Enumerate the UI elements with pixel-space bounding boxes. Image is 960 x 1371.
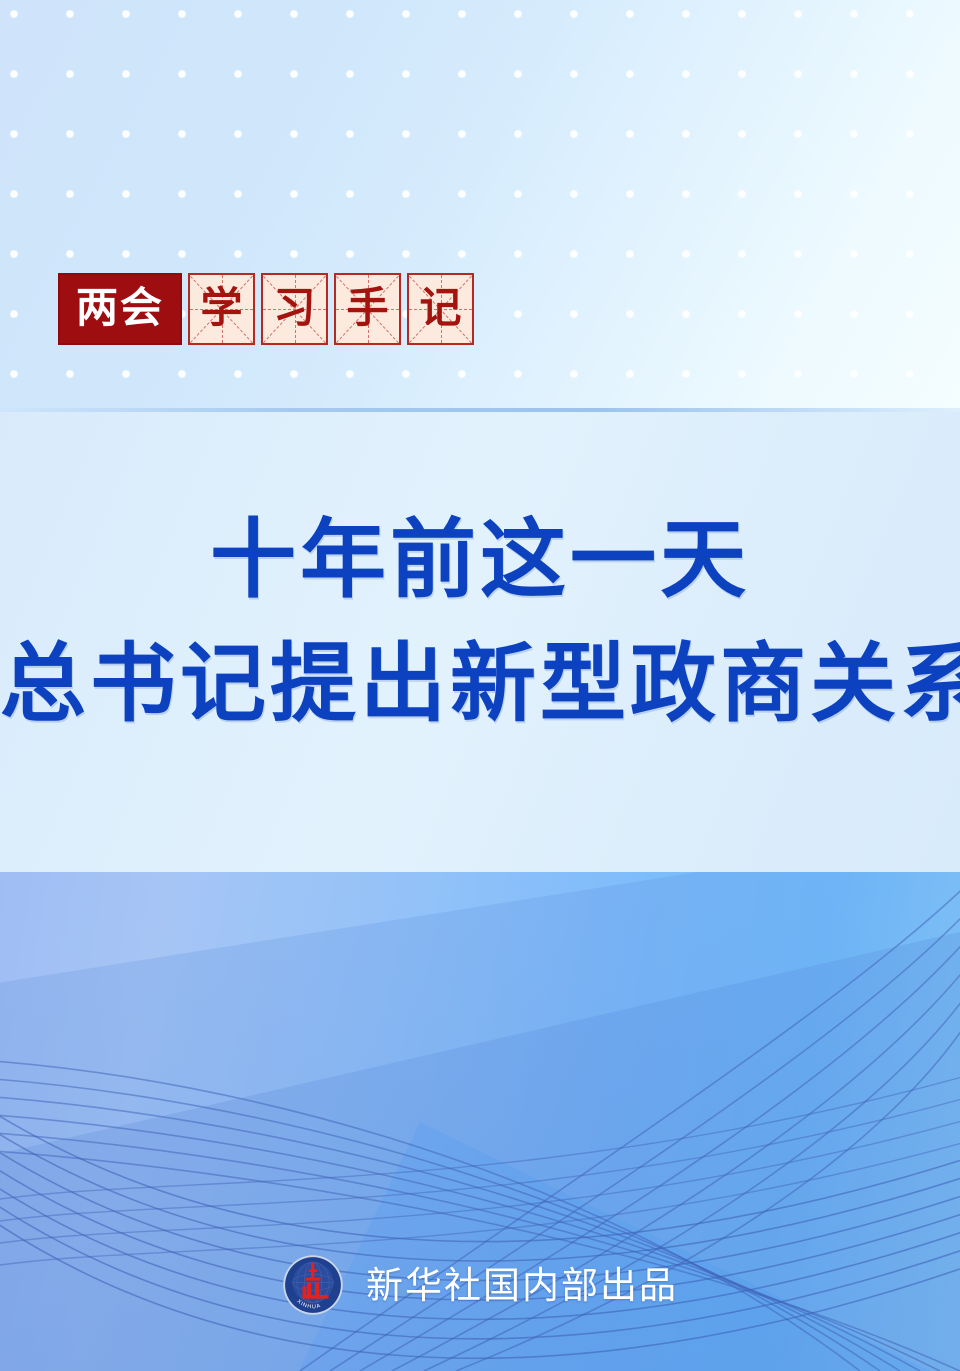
footer-label: 新华社国内部出品 [366,1267,678,1304]
badge-solid-lianghui: 两会 [58,273,182,345]
poster-root: 两会 学 习 手 [0,0,960,1371]
page-title: 十年前这一天 总书记提出新型政商关系 [0,510,960,734]
badge-cell-label-2: 习 [273,287,315,329]
badge-grid-cell-1: 学 [188,273,255,345]
dotted-background-band [0,0,960,412]
badge-grid-cell-2: 习 [261,273,328,345]
badge-cell-label-4: 记 [419,287,461,329]
badge-solid-label: 两会 [76,287,164,329]
title-line-1: 十年前这一天 [0,510,960,610]
badge-cell-label-3: 手 [346,287,388,329]
badge-grid-cell-4: 记 [407,273,474,345]
header-badge: 两会 学 习 手 [58,273,474,345]
title-line-2: 总书记提出新型政商关系 [0,634,960,734]
badge-cell-label-1: 学 [200,287,242,329]
badge-grid-cell-3: 手 [334,273,401,345]
footer: XINHUA 新华社国内部出品 [0,1254,960,1316]
xinhua-logo-icon: XINHUA [282,1254,344,1316]
